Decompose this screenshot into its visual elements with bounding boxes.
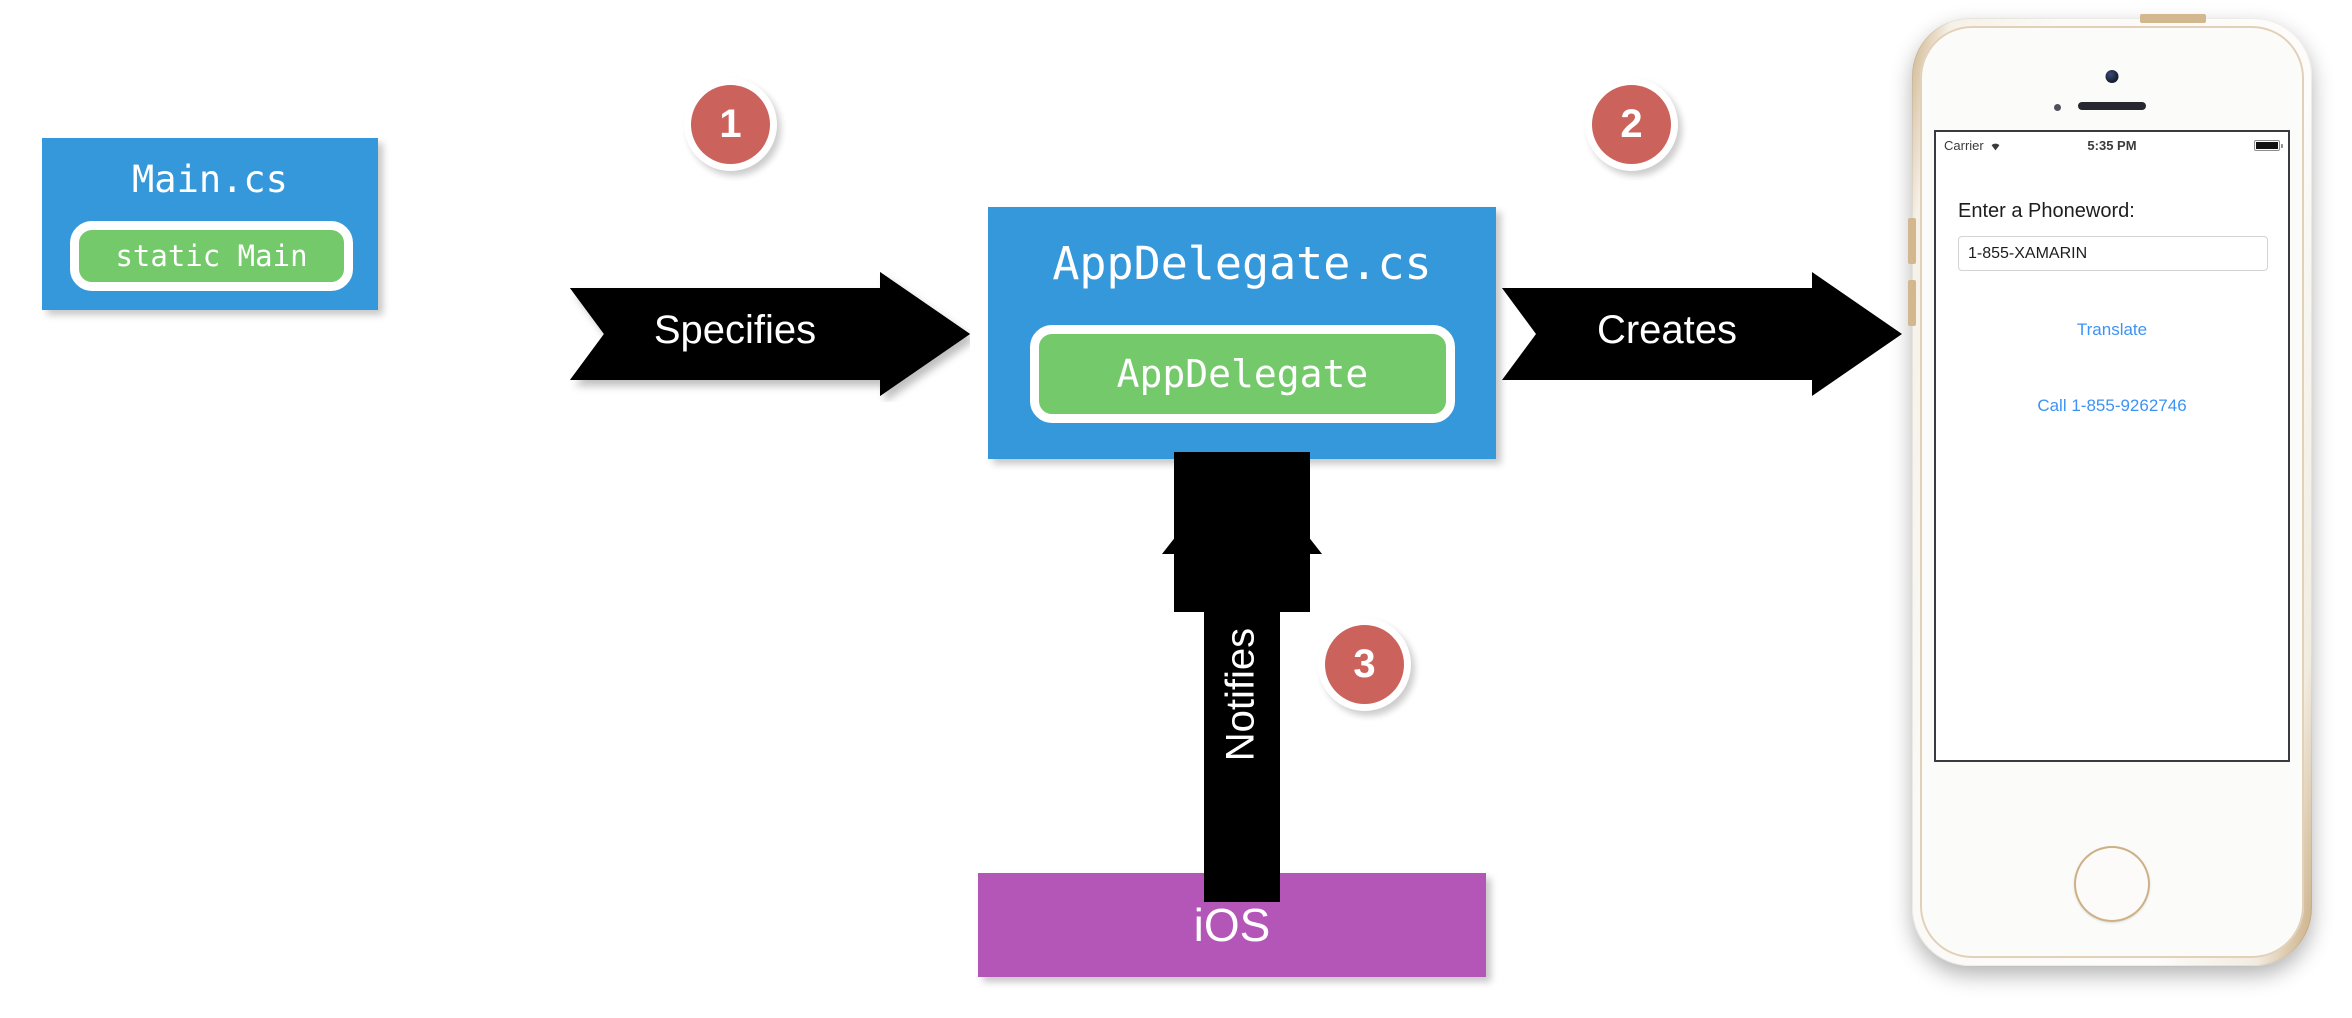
node-appdelegate-cs-title: AppDelegate.cs (988, 237, 1496, 290)
arrow-notifies-shape (1152, 452, 1332, 902)
node-appdelegate-cs: AppDelegate.cs AppDelegate (988, 207, 1496, 459)
arrow-creates-shape (1502, 272, 1902, 402)
volume-up-button[interactable] (1908, 218, 1916, 264)
step-badge-1-number: 1 (719, 102, 741, 147)
phoneword-input[interactable]: 1-855-XAMARIN (1958, 236, 2268, 271)
step-badge-2-number: 2 (1620, 102, 1642, 147)
node-main-cs-title: Main.cs (42, 158, 378, 201)
phoneword-label: Enter a Phoneword: (1958, 200, 2135, 223)
proximity-sensor-icon (2054, 104, 2061, 111)
volume-down-button[interactable] (1908, 280, 1916, 326)
home-button[interactable] (2074, 846, 2150, 922)
arrow-creates: Creates (1502, 272, 1902, 402)
status-bar: Carrier 5:35 PM (1936, 132, 2288, 158)
arrow-notifies: Notifies (1152, 452, 1332, 902)
step-badge-2: 2 (1585, 78, 1678, 171)
node-ios-label: iOS (1194, 898, 1271, 952)
call-button[interactable]: Call 1-855-9262746 (1936, 396, 2288, 416)
arrow-specifies: Specifies (570, 272, 970, 402)
battery-full-icon (2254, 140, 2280, 151)
front-camera-icon (2106, 70, 2119, 83)
step-badge-3: 3 (1318, 618, 1411, 711)
arrow-specifies-shape (570, 272, 970, 402)
translate-button[interactable]: Translate (1936, 320, 2288, 340)
earpiece-speaker-icon (2078, 102, 2146, 110)
node-main-cs: Main.cs static Main (42, 138, 378, 310)
phone-screen: Carrier 5:35 PM Enter a Phoneword: 1-855… (1934, 130, 2290, 762)
status-time: 5:35 PM (1936, 138, 2288, 153)
phoneword-input-value: 1-855-XAMARIN (1968, 245, 2087, 263)
power-button[interactable] (2140, 14, 2206, 23)
step-badge-1: 1 (684, 78, 777, 171)
step-badge-3-number: 3 (1353, 642, 1375, 687)
class-chip-appdelegate: AppDelegate (1030, 325, 1455, 423)
iphone-device: Carrier 5:35 PM Enter a Phoneword: 1-855… (1912, 18, 2312, 966)
class-chip-static-main: static Main (70, 221, 353, 291)
